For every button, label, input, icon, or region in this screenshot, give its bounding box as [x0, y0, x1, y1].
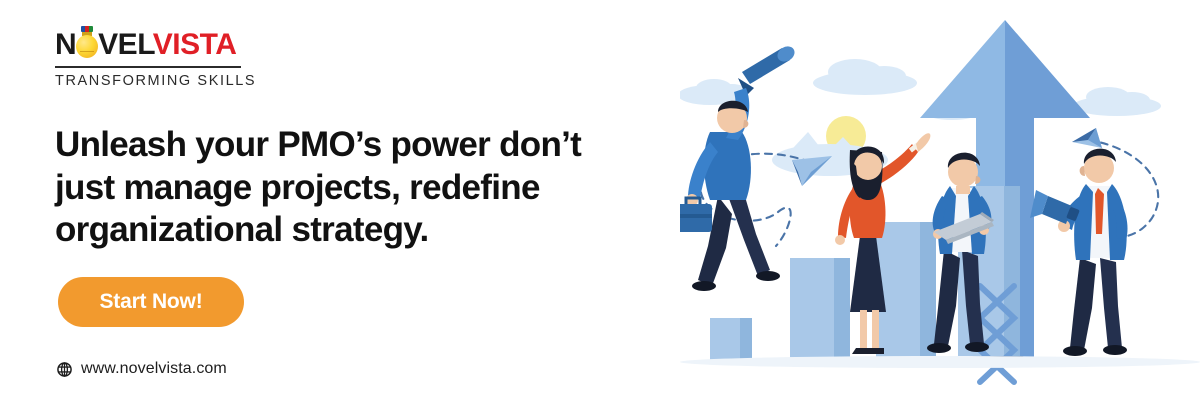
start-now-button[interactable]: Start Now!	[58, 277, 244, 327]
logo-tagline: TRANSFORMING SKILLS	[55, 73, 245, 89]
website-url[interactable]: www.novelvista.com	[81, 360, 227, 378]
headline-line-1: Unleash your PMO’s power don’t	[55, 124, 675, 167]
head	[854, 152, 882, 180]
shoe-right	[965, 342, 989, 352]
bar-3	[876, 222, 936, 360]
logo-text-vel: VEL	[98, 28, 153, 61]
lightbulb-glass-icon	[76, 35, 98, 58]
shoe-right	[1103, 345, 1127, 355]
business-growth-illustration	[680, 0, 1200, 400]
bar-2	[790, 258, 850, 360]
person-with-megaphone	[1030, 149, 1128, 356]
shoe-left	[1063, 346, 1087, 356]
banner-left-content: NVELVISTA TRANSFORMING SKILLS Unleash yo…	[0, 0, 690, 400]
website-row[interactable]: www.novelvista.com	[57, 360, 227, 378]
ground-shadow	[680, 356, 1200, 368]
bar-1	[710, 318, 752, 360]
logo-wordmark: NVELVISTA	[55, 30, 245, 62]
shoe-right	[756, 271, 780, 281]
shoe-left	[692, 281, 716, 291]
logo-divider	[55, 66, 241, 68]
globe-icon	[57, 362, 72, 377]
pointing-hand	[916, 133, 930, 152]
headline-line-3: organizational strategy.	[55, 209, 675, 252]
telescope-icon	[738, 43, 797, 96]
logo-text-vista: VISTA	[153, 28, 237, 61]
promo-banner: NVELVISTA TRANSFORMING SKILLS Unleash yo…	[0, 0, 1200, 400]
cloud-right	[1073, 87, 1161, 116]
paper-plane-right	[1072, 128, 1102, 148]
cloud-top-center	[813, 59, 917, 95]
headline-line-2: just manage projects, redefine	[55, 167, 675, 210]
lightbulb-icon	[76, 30, 98, 60]
logo-letter-n: N	[55, 28, 76, 61]
brand-logo[interactable]: NVELVISTA TRANSFORMING SKILLS	[55, 30, 245, 89]
heel-left	[852, 348, 870, 354]
shoe-left	[927, 343, 951, 353]
headline: Unleash your PMO’s power don’t just mana…	[55, 124, 675, 252]
